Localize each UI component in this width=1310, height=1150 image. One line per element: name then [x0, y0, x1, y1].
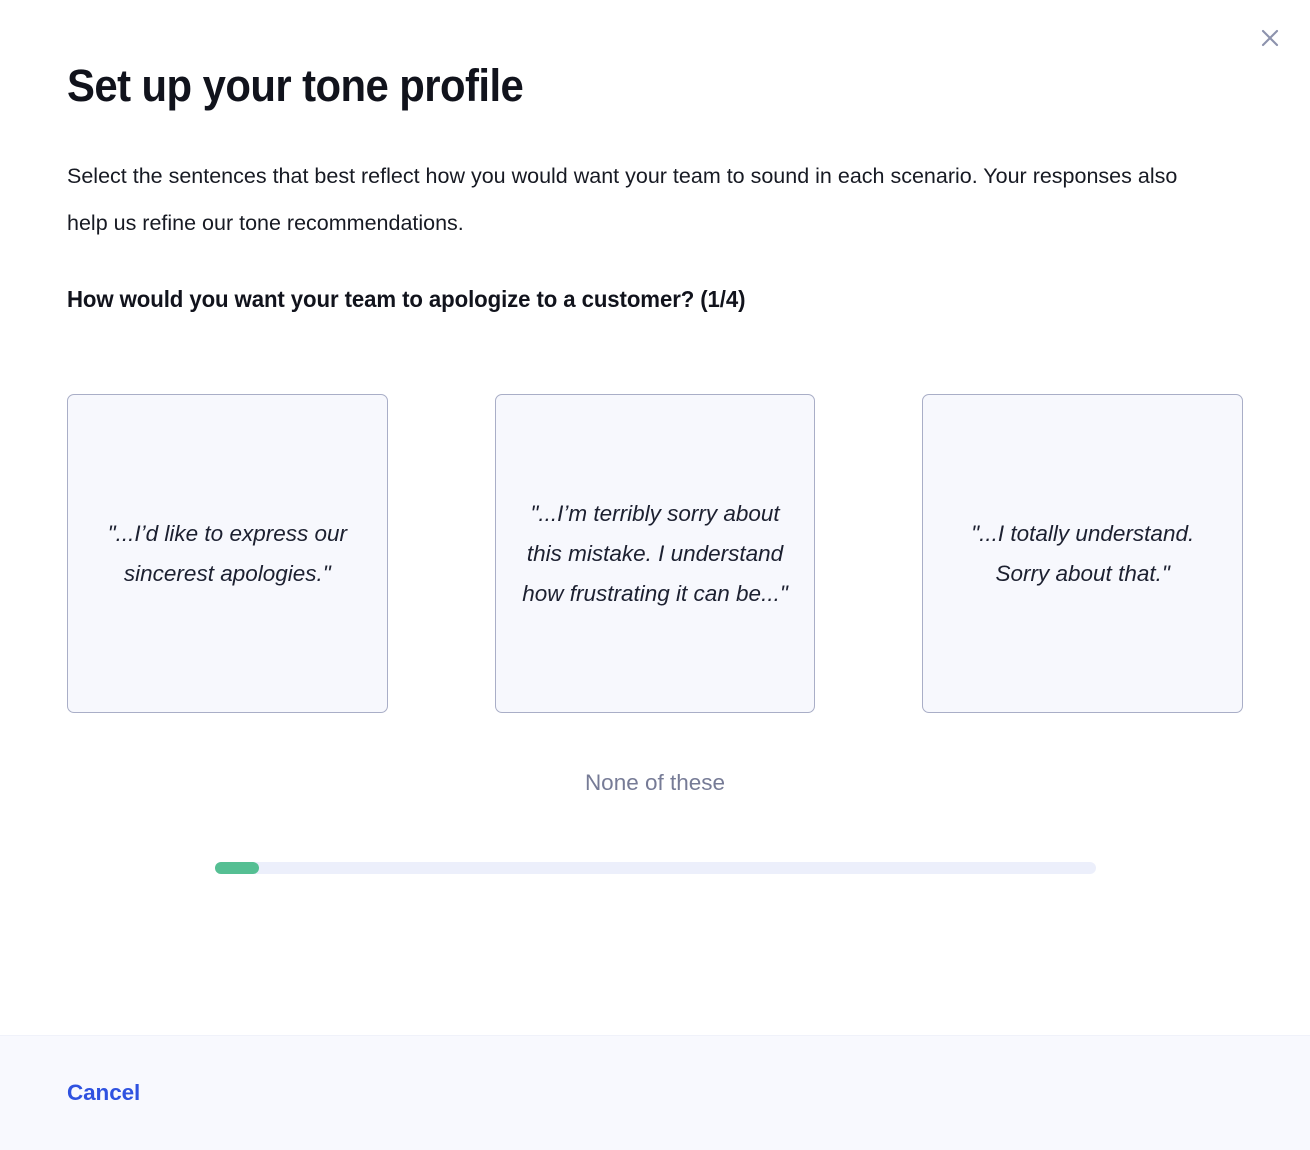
modal-footer: Cancel [0, 1035, 1310, 1150]
option-card-2[interactable]: "...I’m terribly sorry about this mistak… [495, 394, 816, 713]
intro-description: Select the sentences that best reflect h… [67, 153, 1217, 247]
none-of-these-button[interactable]: None of these [579, 765, 731, 800]
modal-body: Set up your tone profile Select the sent… [0, 0, 1310, 1035]
cancel-button[interactable]: Cancel [67, 1078, 140, 1108]
option-card-list: "...I’d like to express our sincerest ap… [67, 394, 1243, 713]
option-card-text: "...I totally understand. Sorry about th… [943, 514, 1222, 594]
question-prompt: How would you want your team to apologiz… [67, 285, 1202, 314]
none-of-these-row: None of these [67, 765, 1243, 800]
option-card-1[interactable]: "...I’d like to express our sincerest ap… [67, 394, 388, 713]
option-card-text: "...I’d like to express our sincerest ap… [88, 514, 367, 594]
option-card-text: "...I’m terribly sorry about this mistak… [516, 494, 795, 614]
option-card-3[interactable]: "...I totally understand. Sorry about th… [922, 394, 1243, 713]
progress-track [215, 862, 1096, 874]
tone-profile-modal: Set up your tone profile Select the sent… [0, 0, 1310, 1150]
close-icon [1258, 26, 1282, 50]
progress-fill [215, 862, 259, 874]
close-button[interactable] [1254, 22, 1286, 54]
page-title: Set up your tone profile [67, 62, 1161, 111]
progress-bar-wrap [67, 862, 1243, 874]
